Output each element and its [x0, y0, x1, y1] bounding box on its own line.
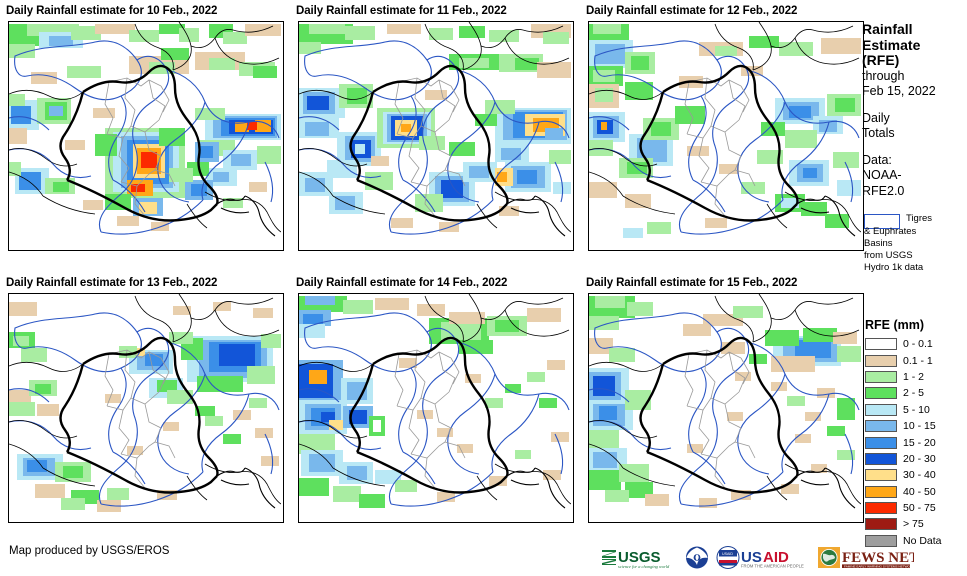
map-panel-3[interactable]: Daily Rainfall estimate for 12 Feb., 202…	[586, 4, 868, 254]
basin-label-line5: Hydro 1k data	[864, 262, 923, 274]
svg-text:USAID: USAID	[722, 552, 733, 556]
legend-color-swatch	[865, 404, 897, 416]
legend-color-swatch	[865, 486, 897, 498]
legend-row: 10 - 15	[862, 418, 967, 434]
rainfall-map-4	[9, 294, 281, 520]
map-panel-title: Daily Rainfall estimate for 13 Feb., 202…	[6, 276, 288, 292]
map-panel-title: Daily Rainfall estimate for 15 Feb., 202…	[586, 276, 868, 292]
rfe-title-line1: Rainfall	[862, 22, 967, 38]
agency-logo-bar: USGS science for a changing world USAID …	[600, 543, 914, 571]
legend-color-swatch	[865, 387, 897, 399]
legend-label: 2 - 5	[903, 387, 924, 399]
legend-label: 40 - 50	[903, 486, 936, 498]
map-canvas[interactable]	[8, 21, 284, 251]
legend-row: 2 - 5	[862, 385, 967, 401]
map-panel-title: Daily Rainfall estimate for 12 Feb., 202…	[586, 4, 868, 20]
legend-row: > 75	[862, 516, 967, 532]
legend-row: 40 - 50	[862, 484, 967, 500]
through-label: through	[862, 69, 967, 85]
legend-color-swatch	[865, 371, 897, 383]
usgs-logo: USGS science for a changing world	[600, 544, 678, 570]
legend-row: 30 - 40	[862, 467, 967, 483]
legend-row: 5 - 10	[862, 402, 967, 418]
legend-color-swatch	[865, 338, 897, 350]
map-panel-title: Daily Rainfall estimate for 11 Feb., 202…	[296, 4, 578, 20]
period-block: Daily Totals	[862, 111, 967, 142]
map-panel-grid: Daily Rainfall estimate for 10 Feb., 202…	[0, 0, 856, 540]
map-panel-1[interactable]: Daily Rainfall estimate for 10 Feb., 202…	[6, 4, 288, 254]
legend-label: 30 - 40	[903, 469, 936, 481]
legend-title: RFE (mm)	[865, 318, 967, 332]
legend-label: 50 - 75	[903, 502, 936, 514]
svg-text:science for a changing world: science for a changing world	[618, 564, 670, 569]
basin-legend: Tigres & Euphrates Basins from USGS Hydr…	[862, 213, 967, 275]
basin-label-line3: Basins	[864, 238, 923, 250]
period-line1: Daily	[862, 111, 967, 127]
map-canvas[interactable]	[298, 293, 574, 523]
map-panel-title: Daily Rainfall estimate for 10 Feb., 202…	[6, 4, 288, 20]
data-label: Data:	[862, 153, 967, 169]
rainfall-map-5	[299, 294, 571, 520]
through-date: Feb 15, 2022	[862, 84, 967, 100]
legend-row: 50 - 75	[862, 500, 967, 516]
data-source-line1: NOAA-	[862, 168, 967, 184]
basin-label-rest: & Euphrates Basins from USGS Hydro 1k da…	[864, 226, 923, 274]
rainfall-map-1	[9, 22, 281, 248]
map-panel-2[interactable]: Daily Rainfall estimate for 11 Feb., 202…	[296, 4, 578, 254]
legend-label: 0 - 0.1	[903, 338, 933, 350]
legend-color-swatch	[865, 453, 897, 465]
legend-row: 0.1 - 1	[862, 352, 967, 368]
legend-label: 15 - 20	[903, 437, 936, 449]
data-source-line2: RFE2.0	[862, 184, 967, 200]
legend-row: 0 - 0.1	[862, 336, 967, 352]
rainfall-map-6	[589, 294, 861, 520]
map-canvas[interactable]	[588, 21, 864, 251]
map-panel-5[interactable]: Daily Rainfall estimate for 14 Feb., 202…	[296, 276, 578, 526]
legend-color-swatch	[865, 420, 897, 432]
rfe-title-line3: (RFE)	[862, 53, 967, 69]
legend-color-swatch	[865, 502, 897, 514]
basin-label-line4: from USGS	[864, 250, 923, 262]
noaa-logo	[684, 544, 710, 570]
legend-label: 1 - 2	[903, 371, 924, 383]
map-panel-title: Daily Rainfall estimate for 14 Feb., 202…	[296, 276, 578, 292]
legend-label: 5 - 10	[903, 404, 930, 416]
usaid-logo: USAID US AID FROM THE AMERICAN PEOPLE	[716, 544, 812, 570]
svg-text:FAMINE EARLY WARNING SYSTEMS N: FAMINE EARLY WARNING SYSTEMS NETWORK	[844, 564, 914, 568]
legend-label: 0.1 - 1	[903, 355, 933, 367]
fewsnet-logo: FEWS NET FAMINE EARLY WARNING SYSTEMS NE…	[818, 544, 914, 570]
map-credit: Map produced by USGS/EROS	[9, 545, 169, 557]
legend-label: 20 - 30	[903, 453, 936, 465]
rainfall-map-3	[589, 22, 861, 248]
legend-label: 10 - 15	[903, 420, 936, 432]
map-canvas[interactable]	[298, 21, 574, 251]
legend-color-swatch	[865, 469, 897, 481]
legend-color-swatch	[865, 355, 897, 367]
legend-label: > 75	[903, 518, 924, 530]
legend-row: 20 - 30	[862, 451, 967, 467]
rfe-title-line2: Estimate	[862, 38, 967, 54]
legend-rows: 0 - 0.10.1 - 11 - 22 - 55 - 1010 - 1515 …	[862, 336, 967, 549]
map-canvas[interactable]	[8, 293, 284, 523]
legend-color-swatch	[865, 518, 897, 530]
map-canvas[interactable]	[588, 293, 864, 523]
basin-label-line2: & Euphrates	[864, 226, 923, 238]
data-source-block: Data: NOAA- RFE2.0	[862, 153, 967, 200]
svg-text:FROM THE AMERICAN PEOPLE: FROM THE AMERICAN PEOPLE	[741, 563, 804, 568]
period-line2: Totals	[862, 126, 967, 142]
basin-label-line1: Tigres	[906, 213, 932, 225]
legend-color-swatch	[865, 437, 897, 449]
info-panel: Rainfall Estimate (RFE) through Feb 15, …	[862, 22, 967, 275]
rainfall-map-2	[299, 22, 571, 248]
map-panel-6[interactable]: Daily Rainfall estimate for 15 Feb., 202…	[586, 276, 868, 526]
legend-row: 15 - 20	[862, 434, 967, 450]
legend-row: 1 - 2	[862, 369, 967, 385]
rfe-legend: RFE (mm) 0 - 0.10.1 - 11 - 22 - 55 - 101…	[862, 318, 967, 549]
map-panel-4[interactable]: Daily Rainfall estimate for 13 Feb., 202…	[6, 276, 288, 526]
